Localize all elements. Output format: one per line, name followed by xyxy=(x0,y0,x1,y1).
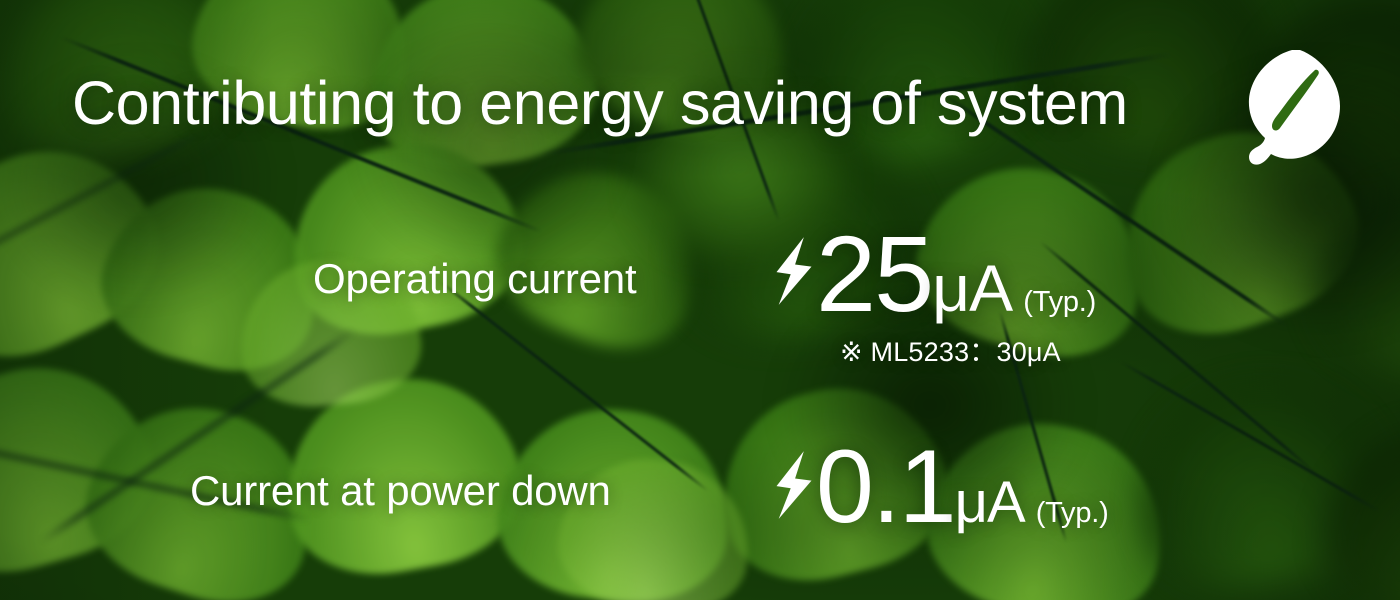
spec-label-current-at-power-down: Current at power down xyxy=(190,467,611,515)
spec-number-current-at-power-down: 0.1 xyxy=(816,438,955,538)
spec-unit-operating-current: μA xyxy=(932,257,1012,320)
lightning-bolt-icon xyxy=(772,236,816,311)
page-title: Contributing to energy saving of system xyxy=(72,72,1128,134)
banner-content: Contributing to energy saving of system … xyxy=(0,0,1400,600)
spec-note-operating-current: ※ ML5233：30μA xyxy=(840,330,1061,369)
spec-unit-current-at-power-down: μA xyxy=(955,475,1025,531)
lightning-bolt-icon xyxy=(772,450,816,525)
spec-qualifier-operating-current: (Typ.) xyxy=(1023,288,1096,317)
spec-value-current-at-power-down: 0.1 μA (Typ.) xyxy=(772,438,1109,538)
leaf-icon xyxy=(1244,48,1344,168)
spec-number-operating-current: 25 xyxy=(816,222,932,326)
spec-label-operating-current: Operating current xyxy=(313,255,636,303)
spec-value-operating-current: 25 μA (Typ.) xyxy=(772,222,1096,326)
energy-saving-banner: Contributing to energy saving of system … xyxy=(0,0,1400,600)
spec-qualifier-current-at-power-down: (Typ.) xyxy=(1036,499,1109,528)
